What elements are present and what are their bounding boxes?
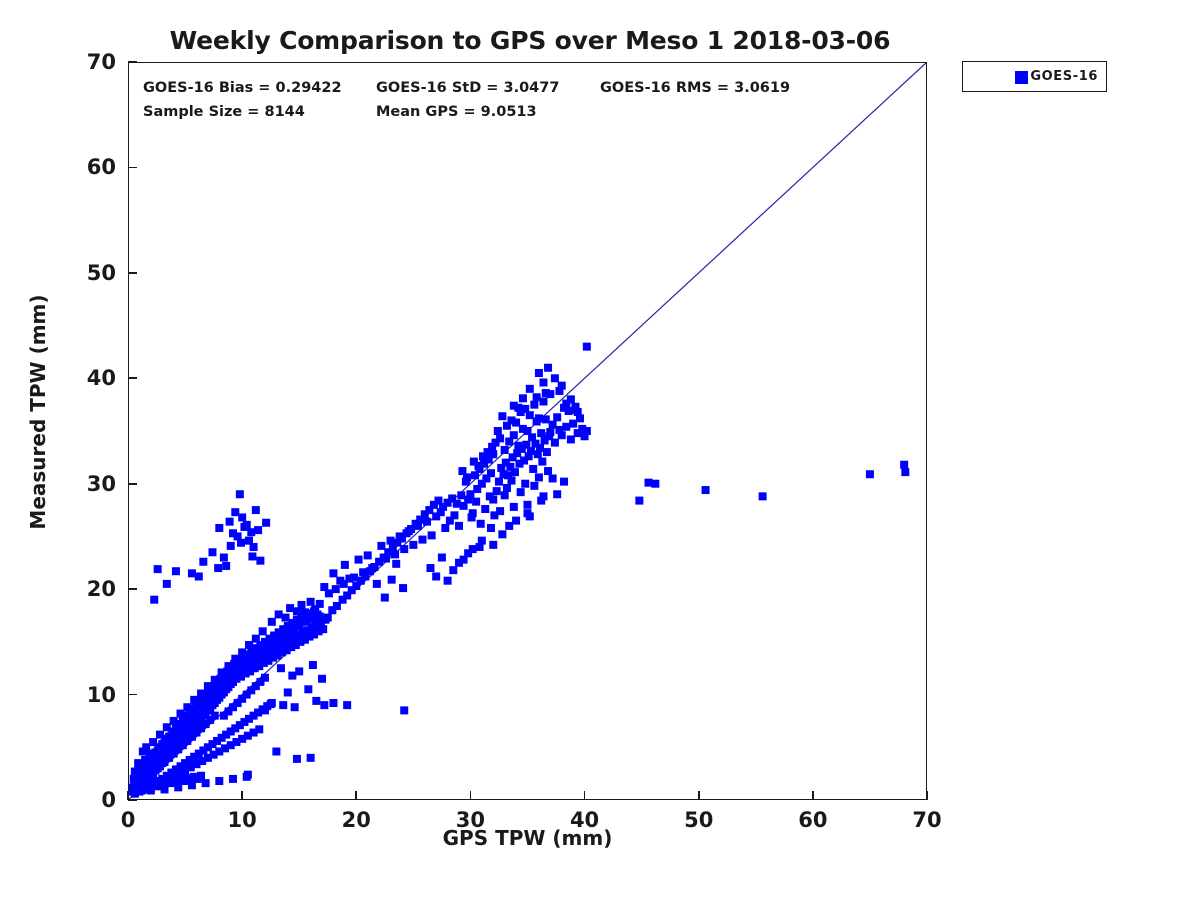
y-tick-mark bbox=[128, 588, 137, 590]
y-tick-mark bbox=[128, 483, 137, 485]
y-axis-label: Measured TPW (mm) bbox=[26, 262, 50, 562]
x-tick-mark bbox=[698, 791, 700, 800]
page-title: Weekly Comparison to GPS over Meso 1 201… bbox=[0, 26, 1060, 55]
y-tick-label: 30 bbox=[58, 472, 116, 496]
y-tick-label: 60 bbox=[58, 155, 116, 179]
plot-area bbox=[128, 62, 927, 800]
y-tick-mark bbox=[128, 167, 137, 169]
y-tick-label: 70 bbox=[58, 50, 116, 74]
x-tick-mark bbox=[470, 791, 472, 800]
x-tick-mark bbox=[812, 791, 814, 800]
y-tick-label: 0 bbox=[58, 788, 116, 812]
y-tick-mark bbox=[128, 61, 137, 63]
x-axis-label: GPS TPW (mm) bbox=[128, 826, 927, 850]
legend-label-goes16: GOES-16 bbox=[1030, 69, 1098, 84]
x-tick-mark bbox=[241, 791, 243, 800]
x-tick-mark bbox=[926, 791, 928, 800]
y-tick-mark bbox=[128, 272, 137, 274]
scatter-plot-figure: Weekly Comparison to GPS over Meso 1 201… bbox=[0, 0, 1200, 900]
y-tick-mark bbox=[128, 694, 137, 696]
x-tick-mark bbox=[584, 791, 586, 800]
y-tick-label: 10 bbox=[58, 683, 116, 707]
y-tick-label: 50 bbox=[58, 261, 116, 285]
x-tick-mark bbox=[355, 791, 357, 800]
y-tick-label: 20 bbox=[58, 577, 116, 601]
scatter-points-layer bbox=[128, 62, 927, 800]
y-tick-mark bbox=[128, 799, 137, 801]
y-tick-label: 40 bbox=[58, 366, 116, 390]
legend-marker-goes16 bbox=[1015, 71, 1028, 84]
y-tick-mark bbox=[128, 377, 137, 379]
legend: GOES-16 bbox=[962, 61, 1107, 92]
